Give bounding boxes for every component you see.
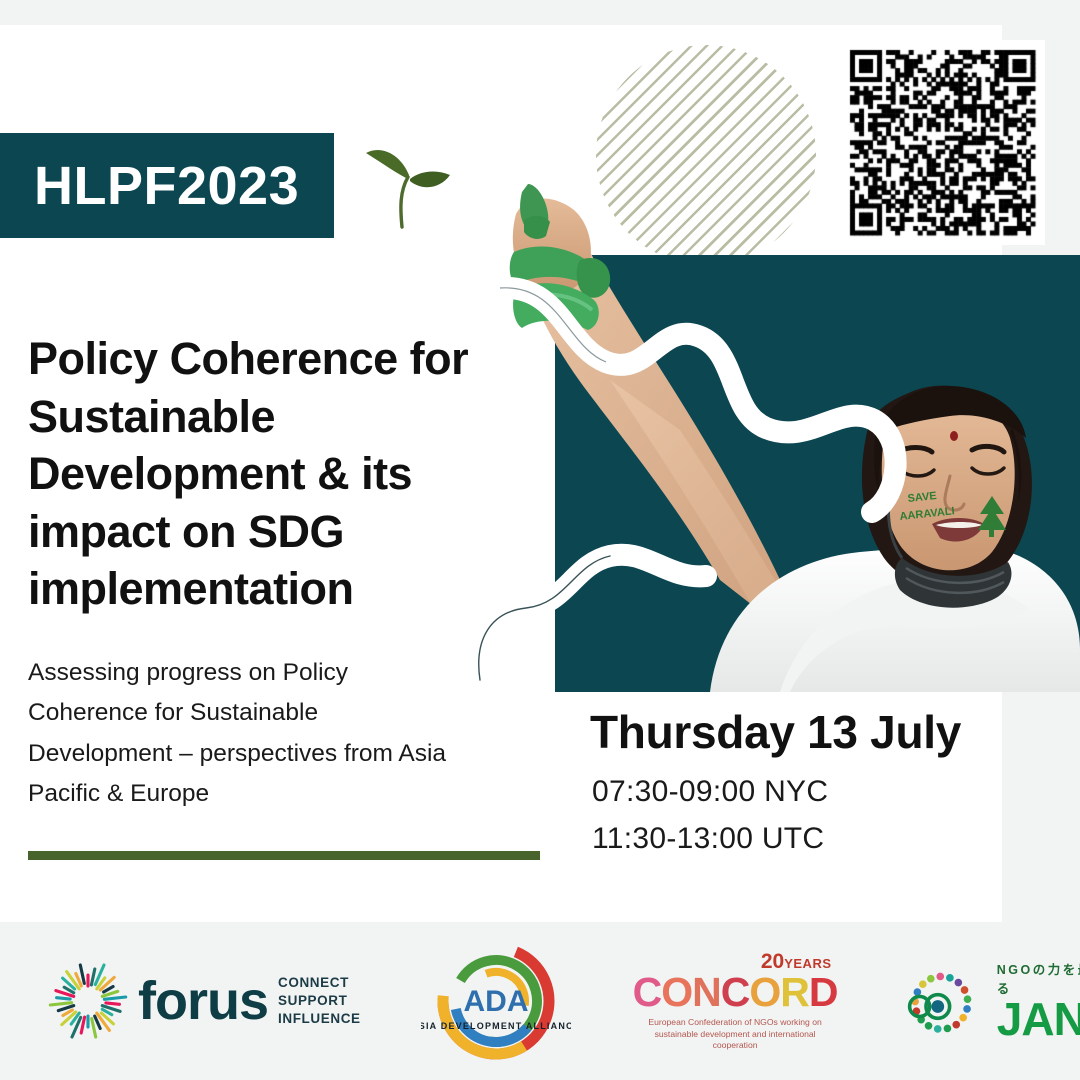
- seedling-icon: [352, 135, 456, 231]
- forus-tagline: CONNECT SUPPORT INFLUENCE: [278, 974, 361, 1029]
- forus-tagline-line-1: CONNECT: [278, 974, 361, 992]
- page-subtitle: Assessing progress on Policy Coherence f…: [28, 653, 448, 815]
- qr-code[interactable]: [840, 40, 1045, 245]
- ada-tagline: ASIA DEVELOPMENT ALLIANCE: [421, 1021, 571, 1031]
- hlpf-badge-label: HLPF2023: [34, 159, 299, 213]
- logo-ada[interactable]: ADA ASIA DEVELOPMENT ALLIANCE: [421, 946, 571, 1056]
- janic-dot-ring-icon: [896, 953, 983, 1049]
- event-date: Thursday 13 July: [590, 705, 961, 759]
- partner-logo-strip: forus CONNECT SUPPORT INFLUENCE: [0, 922, 1080, 1080]
- forus-wordmark: forus: [138, 974, 268, 1028]
- white-squiggle-line: [470, 250, 930, 700]
- concord-tagline-line-1: European Confederation of NGOs working o…: [640, 1017, 830, 1029]
- striped-circle-decoration: [596, 45, 816, 265]
- concord-wordmark: CONCORD: [633, 972, 838, 1013]
- logo-forus[interactable]: forus CONNECT SUPPORT INFLUENCE: [44, 946, 361, 1056]
- hlpf-badge: HLPF2023: [0, 133, 334, 238]
- logo-janic[interactable]: NGOの力を最大化する JANIC: [896, 946, 1080, 1056]
- logo-concord[interactable]: 20YEARS CONCORD European Confederation o…: [633, 946, 838, 1056]
- forus-tagline-line-2: SUPPORT: [278, 992, 361, 1010]
- divider-rule: [28, 851, 540, 860]
- janic-japanese-tagline: NGOの力を最大化する: [997, 959, 1080, 997]
- page-title: Policy Coherence for Sustainable Develop…: [28, 330, 498, 618]
- forus-burst-icon: [44, 957, 132, 1045]
- concord-tagline: European Confederation of NGOs working o…: [640, 1017, 830, 1052]
- concord-tagline-line-2: sustainable development and internationa…: [640, 1029, 830, 1052]
- poster-root: HLPF2023 Policy Coherence for Sustainabl…: [0, 0, 1080, 1080]
- ada-wordmark: ADA: [463, 985, 528, 1018]
- forus-tagline-line-3: INFLUENCE: [278, 1010, 361, 1028]
- event-time-utc: 11:30-13:00 UTC: [592, 822, 824, 856]
- janic-wordmark: JANIC: [997, 995, 1080, 1043]
- ada-arcs-icon: ADA ASIA DEVELOPMENT ALLIANCE: [421, 941, 571, 1065]
- event-time-nyc: 07:30-09:00 NYC: [592, 775, 828, 809]
